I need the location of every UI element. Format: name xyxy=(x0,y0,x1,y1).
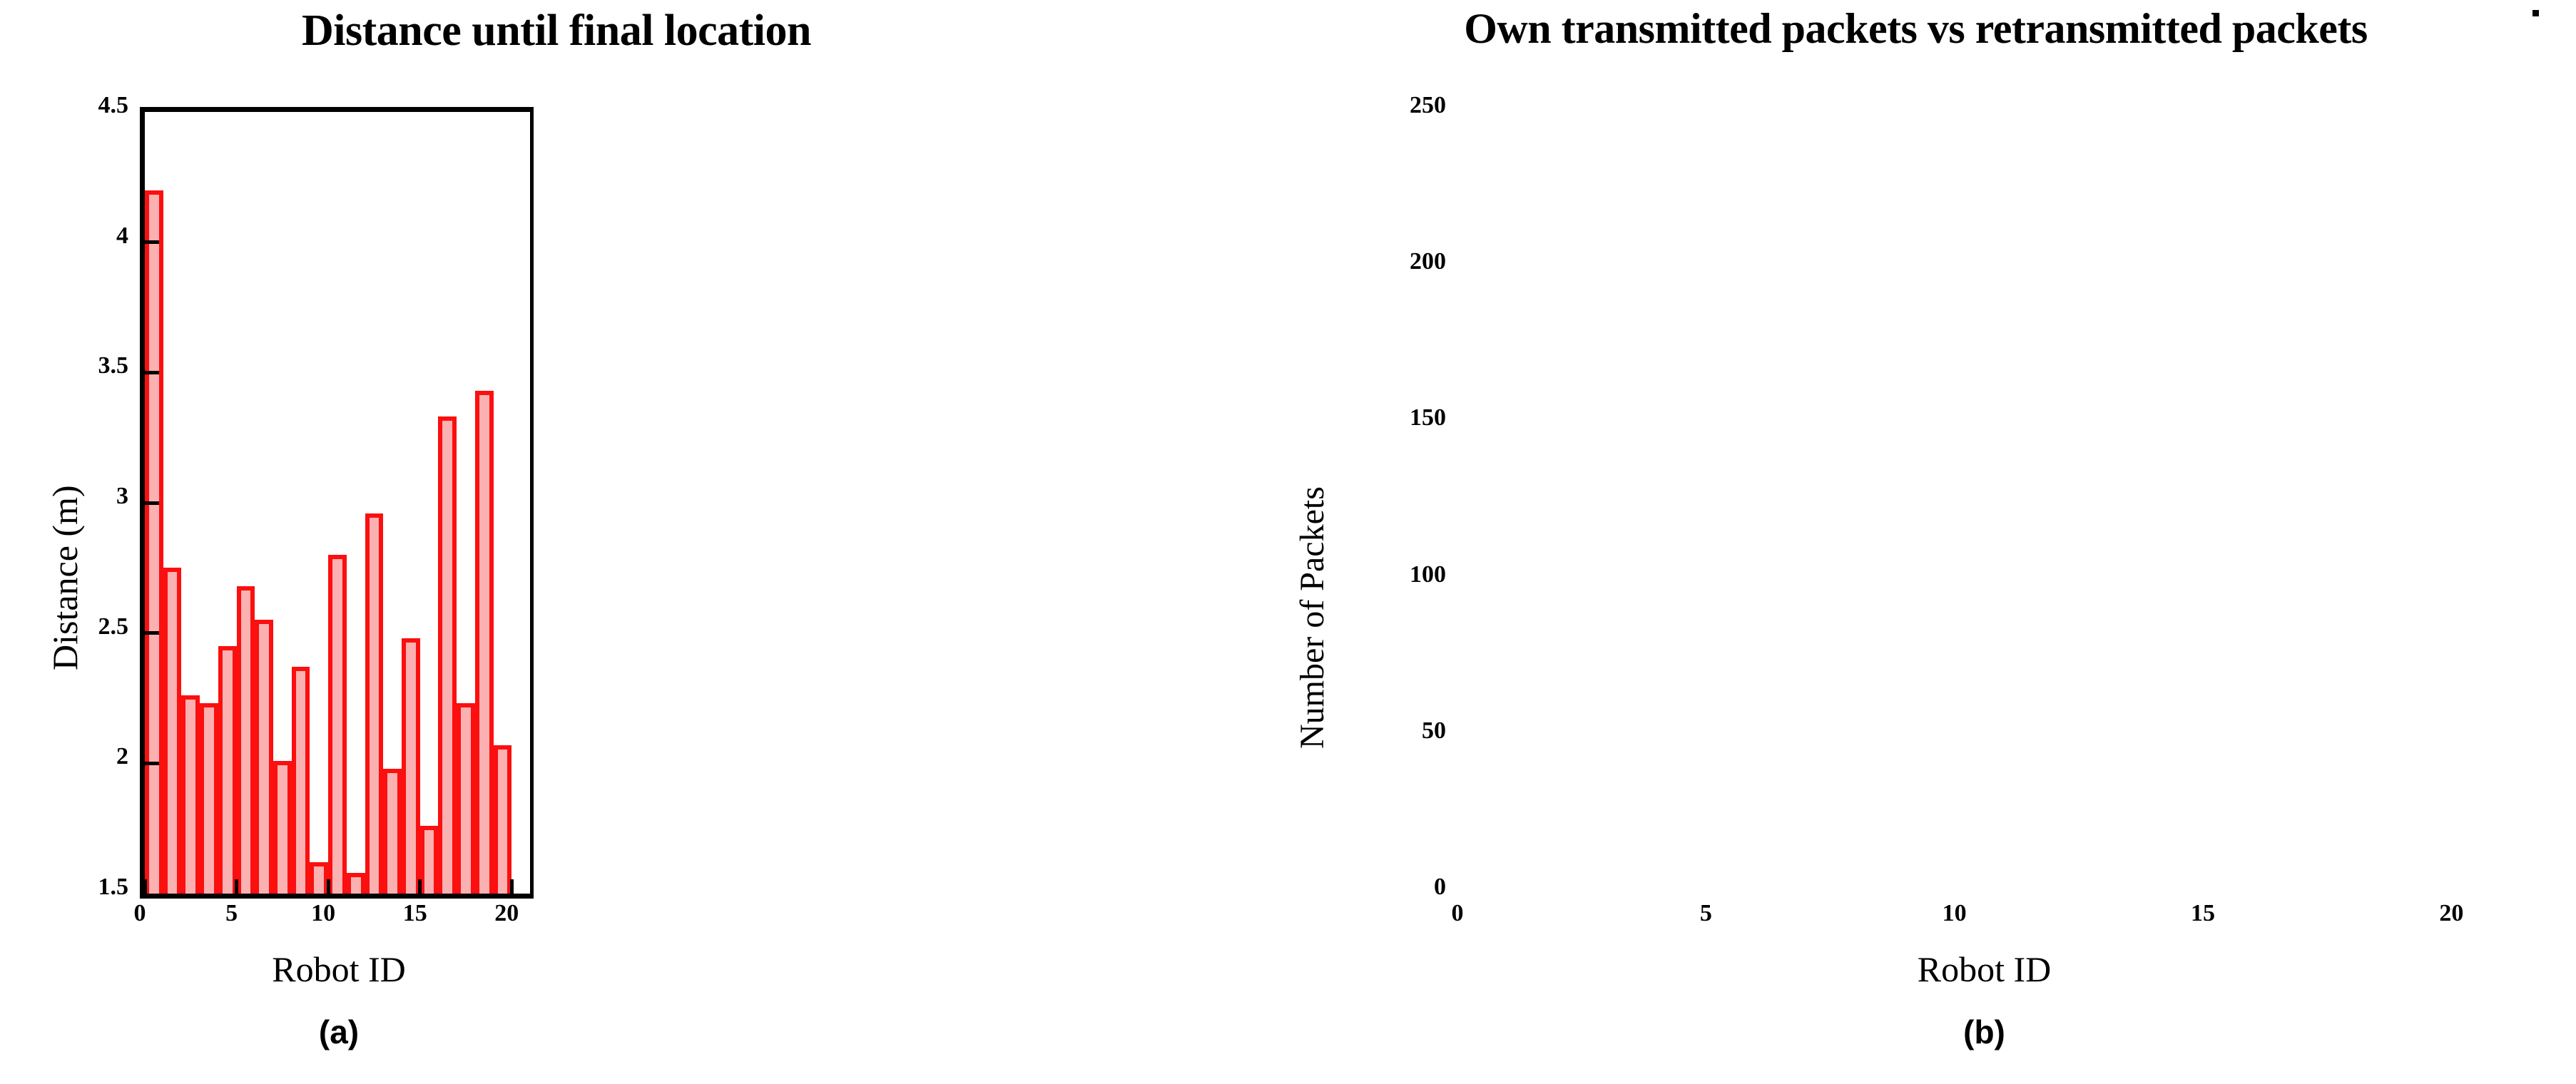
chart-title-distance: Distance until final location xyxy=(0,6,1184,56)
bar xyxy=(310,862,328,894)
panel-a-distance: Distance until final location Distance (… xyxy=(0,0,1256,1084)
bar xyxy=(438,416,457,894)
bar xyxy=(328,555,347,894)
bar xyxy=(457,703,475,894)
x-tick-label: 20 xyxy=(2408,900,2494,927)
bar xyxy=(292,667,310,894)
bar xyxy=(218,646,237,894)
bar xyxy=(420,826,439,894)
plot-area-distance xyxy=(140,107,534,899)
y-tick-label: 3.5 xyxy=(14,352,128,379)
bar xyxy=(365,513,384,894)
y-tick-label: 2.5 xyxy=(14,613,128,640)
bar xyxy=(494,745,512,894)
y-tick-label: 50 xyxy=(1332,717,1446,745)
y-tick-mark xyxy=(145,240,159,244)
x-tick-mark xyxy=(235,879,238,894)
x-tick-mark xyxy=(327,879,330,894)
y-tick-label: 200 xyxy=(1332,248,1446,275)
x-tick-label: 15 xyxy=(372,900,458,927)
y-tick-mark xyxy=(145,631,159,635)
bar xyxy=(237,586,255,894)
y-tick-label: 1.5 xyxy=(14,874,128,901)
y-tick-label: 4.5 xyxy=(14,92,128,119)
x-tick-label: 0 xyxy=(97,900,183,927)
x-axis-title-distance: Robot ID xyxy=(0,948,678,990)
y-axis-title-distance: Distance (m) xyxy=(44,485,86,670)
x-tick-mark xyxy=(510,879,514,894)
x-tick-label: 5 xyxy=(189,900,275,927)
bar-group-distance xyxy=(145,112,530,894)
y-tick-mark xyxy=(145,762,159,765)
y-tick-mark xyxy=(145,501,159,505)
bar xyxy=(145,190,163,894)
x-tick-label: 15 xyxy=(2160,900,2246,927)
bar xyxy=(181,695,200,894)
x-tick-label: 20 xyxy=(464,900,549,927)
panel-caption-a: (a) xyxy=(0,1013,678,1051)
x-axis-title-packets: Robot ID xyxy=(1457,948,2511,990)
bar xyxy=(273,761,292,894)
chart-title-packets: Own transmitted packets vs retransmitted… xyxy=(1256,4,2576,53)
x-tick-mark xyxy=(143,879,147,894)
y-tick-label: 150 xyxy=(1332,404,1446,431)
bar xyxy=(402,638,420,894)
bar xyxy=(163,568,182,894)
y-tick-label: 0 xyxy=(1332,874,1446,901)
bar xyxy=(383,769,402,894)
panel-caption-b: (b) xyxy=(1457,1013,2511,1051)
y-axis-title-packets: Number of Packets xyxy=(1293,486,1332,749)
x-tick-label: 5 xyxy=(1663,900,1748,927)
y-tick-label: 3 xyxy=(14,483,128,510)
x-tick-mark xyxy=(418,879,422,894)
x-tick-label: 10 xyxy=(280,900,366,927)
figure-root: Distance until final location Distance (… xyxy=(0,0,2576,1084)
x-tick-label: 0 xyxy=(1415,900,1500,927)
y-tick-mark xyxy=(145,371,159,374)
panel-b-packets: Own transmitted packets vs retransmitted… xyxy=(1256,0,2576,1084)
bar xyxy=(475,391,494,894)
bar xyxy=(347,873,365,894)
bar xyxy=(200,703,218,894)
bar xyxy=(255,620,273,894)
y-tick-label: 4 xyxy=(14,223,128,250)
y-tick-label: 2 xyxy=(14,743,128,770)
y-tick-label: 100 xyxy=(1332,561,1446,588)
x-tick-label: 10 xyxy=(1912,900,1997,927)
y-tick-label: 250 xyxy=(1332,92,1446,119)
